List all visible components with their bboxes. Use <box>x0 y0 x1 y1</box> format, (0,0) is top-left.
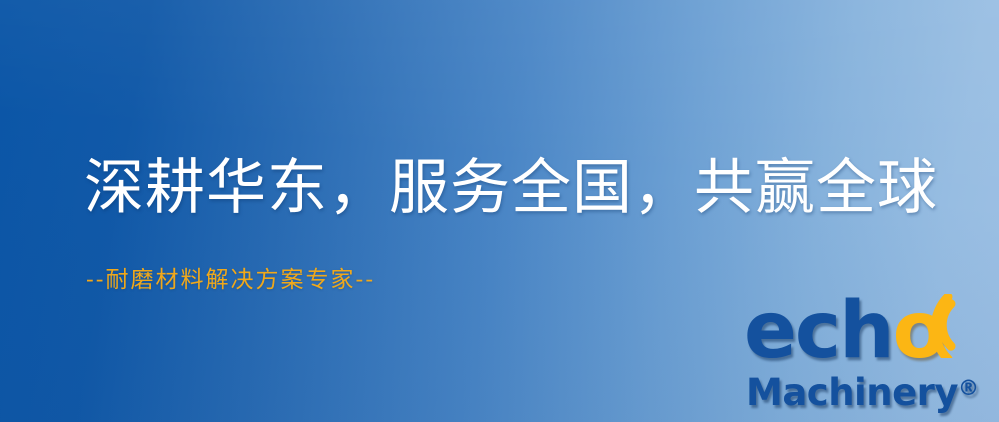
promo-banner: 深耕华东，服务全国，共赢全球 --耐磨材料解决方案专家-- echo Machi… <box>0 0 999 422</box>
banner-headline: 深耕华东，服务全国，共赢全球 <box>84 153 938 223</box>
company-logo: echo Machinery® <box>744 296 999 422</box>
logo-subtext: Machinery® <box>746 368 979 413</box>
logo-wordmark-prefix: ech <box>744 286 893 376</box>
registered-trademark-icon: ® <box>958 376 979 400</box>
logo-wordmark: echo <box>744 292 944 370</box>
logo-subtext-label: Machinery <box>746 371 958 414</box>
signal-arcs-icon <box>920 294 992 358</box>
banner-subtitle: --耐磨材料解决方案专家-- <box>86 265 375 295</box>
